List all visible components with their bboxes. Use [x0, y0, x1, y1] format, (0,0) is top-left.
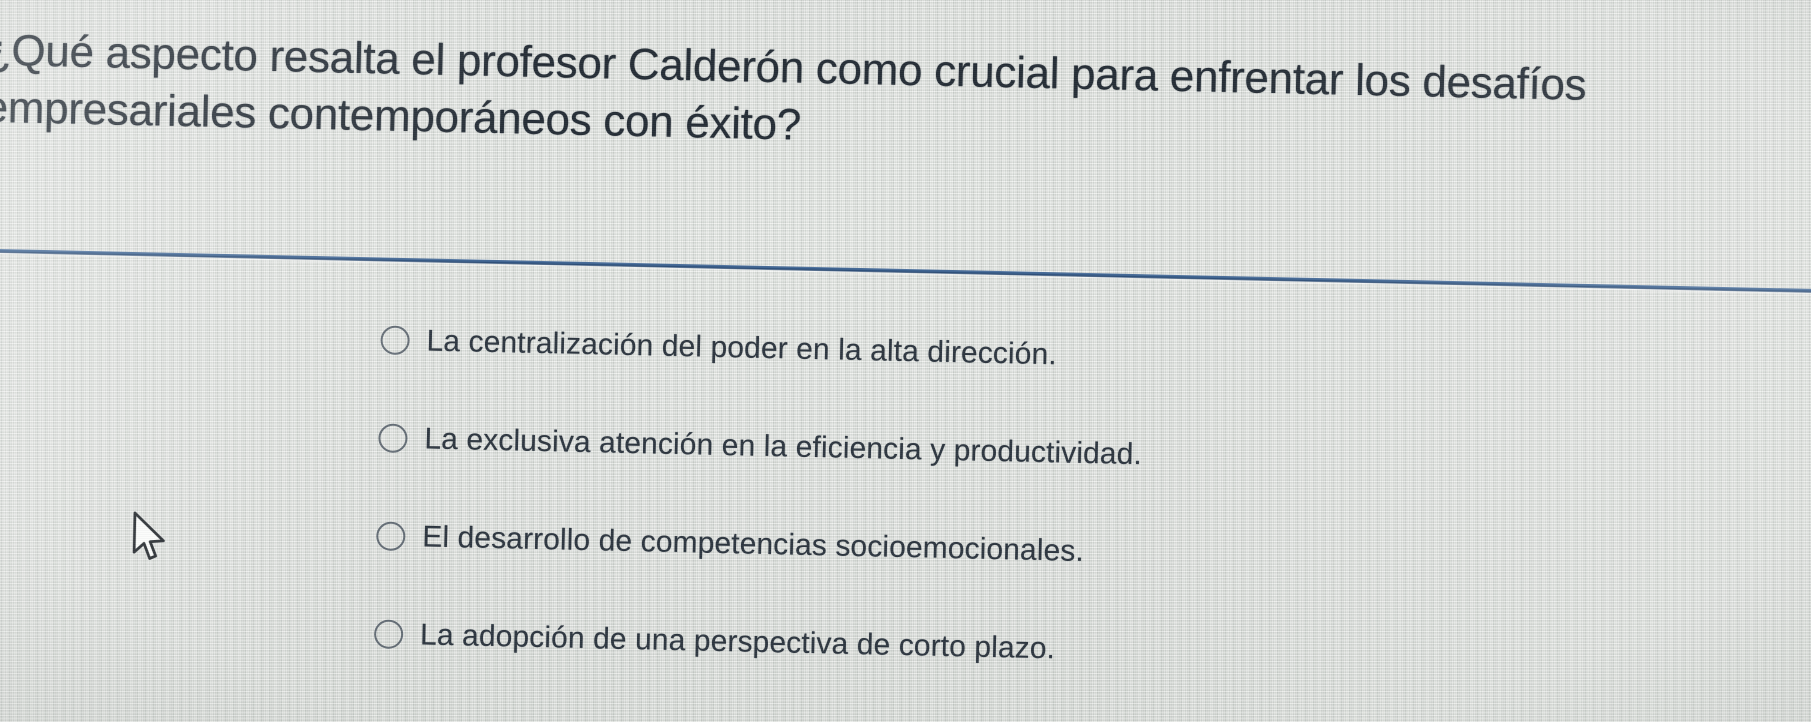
- quiz-page: ¿Qué aspecto resalta el profesor Calderó…: [0, 0, 1811, 722]
- answer-option-label-1: La centralización del poder en la alta d…: [426, 324, 1057, 371]
- answer-option-label-3: El desarrollo de competencias socioemoci…: [422, 520, 1084, 568]
- mouse-pointer-icon: [128, 511, 175, 568]
- radio-button-icon-3[interactable]: [376, 521, 406, 551]
- answer-option-label-4: La adopción de una perspectiva de corto …: [420, 618, 1056, 665]
- radio-button-icon-2[interactable]: [378, 423, 408, 453]
- answer-options-list: La centralización del poder en la alta d…: [373, 290, 1561, 708]
- question-divider: [0, 249, 1811, 294]
- question-text: ¿Qué aspecto resalta el profesor Calderó…: [0, 22, 1811, 177]
- answer-option-label-2: La exclusiva atención en la eficiencia y…: [424, 422, 1142, 471]
- screen-photo: ¿Qué aspecto resalta el profesor Calderó…: [0, 0, 1811, 722]
- radio-button-icon-4[interactable]: [374, 619, 404, 649]
- radio-button-icon-1[interactable]: [380, 325, 410, 355]
